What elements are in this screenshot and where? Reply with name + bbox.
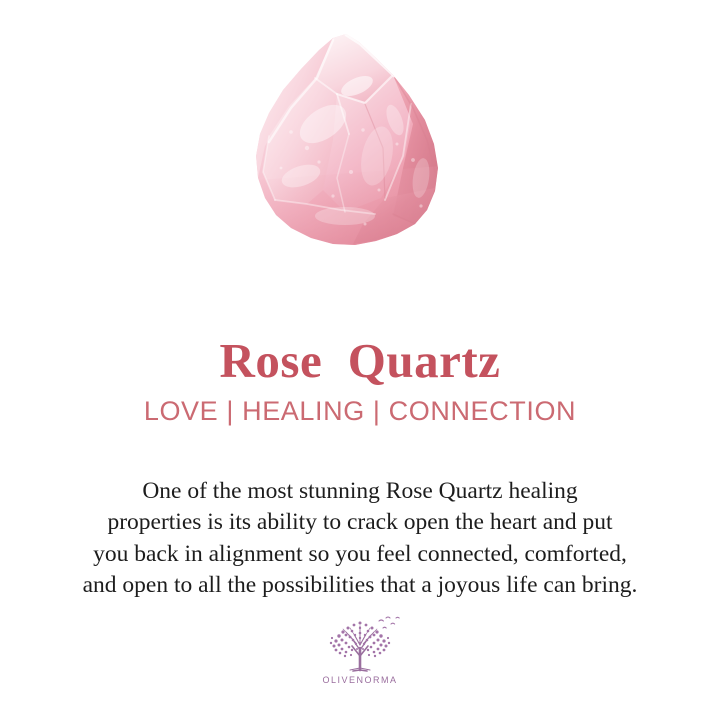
page-title: Rose Quartz [0,335,720,387]
crystal-image [0,28,720,268]
birds-icon [379,617,399,628]
rose-quartz-crystal-illustration [245,28,475,263]
description-line: properties is its ability to crack open … [22,507,698,539]
description-paragraph: One of the most stunning Rose Quartz hea… [22,476,698,602]
description-line: One of the most stunning Rose Quartz hea… [22,476,698,508]
keywords-subtitle: LOVE | HEALING | CONNECTION [0,397,720,427]
rose-quartz-info-card: Rose Quartz LOVE | HEALING | CONNECTION … [0,0,720,720]
brand-wordmark: OLIVENORMA [322,675,397,685]
tree-icon [317,612,403,674]
brand-logo: OLIVENORMA [0,612,720,685]
description-line: you back in alignment so you feel connec… [22,539,698,571]
description-line: and open to all the possibilities that a… [22,570,698,602]
